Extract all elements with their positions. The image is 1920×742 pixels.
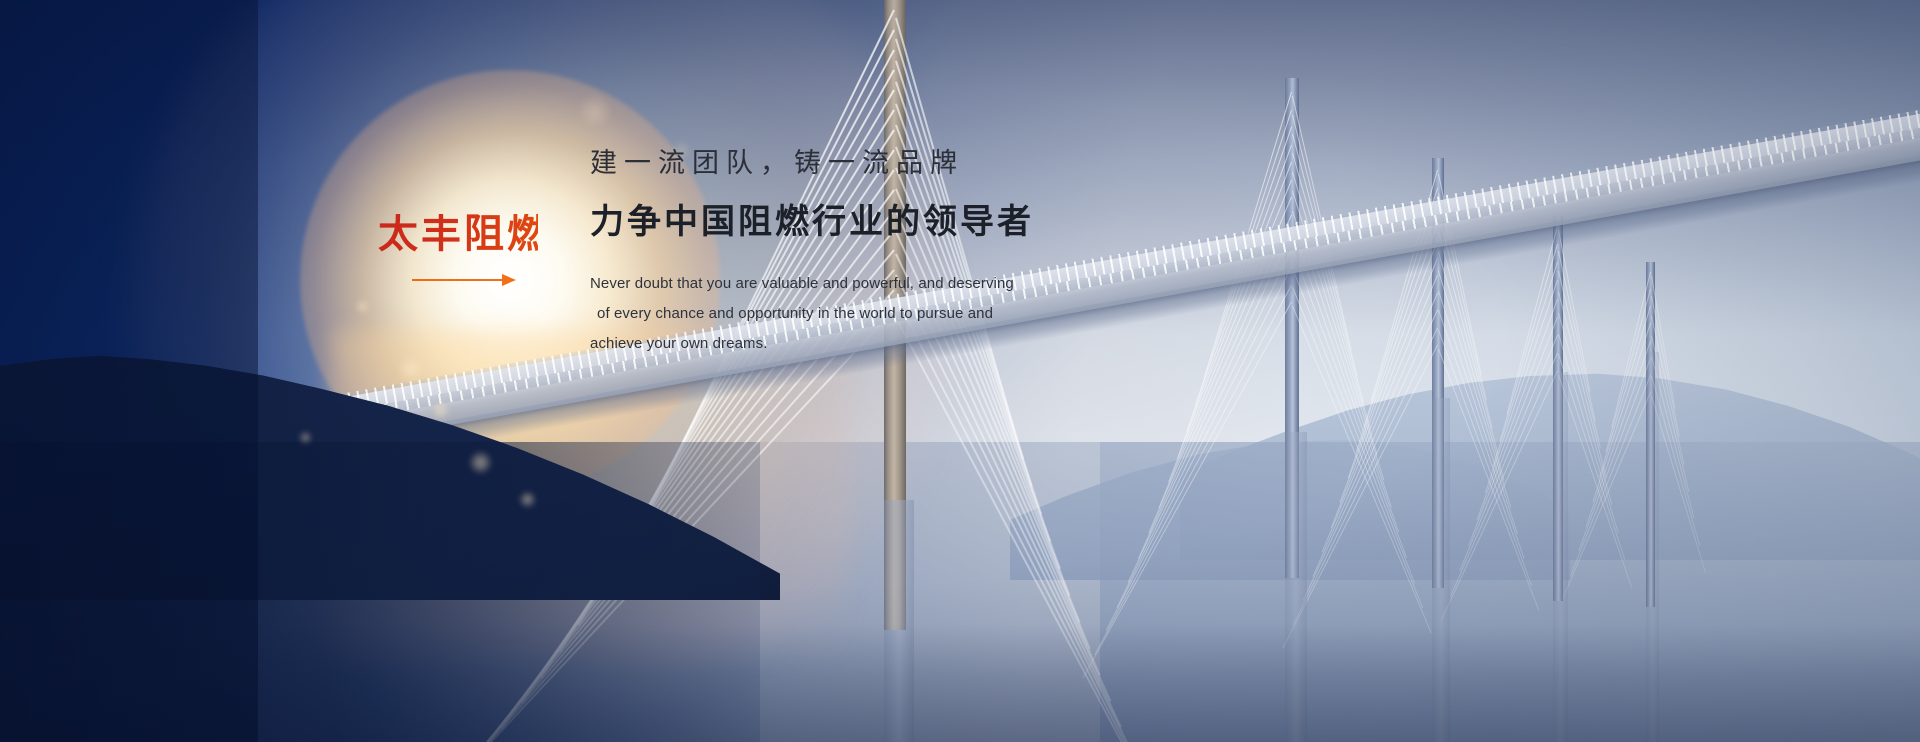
description-line-2: of every chance and opportunity in the w… <box>590 299 1210 329</box>
brand-logo[interactable]: 太丰阻燃 <box>378 214 538 286</box>
banner-text-block: 建一流团队，铸一流品牌 力争中国阻燃行业的领导者 Never doubt tha… <box>590 148 1210 359</box>
hero-banner: 太丰阻燃 建一流团队，铸一流品牌 力争中国阻燃行业的领导者 Never doub… <box>0 0 1920 742</box>
brand-logo-text: 太丰阻燃 <box>378 214 538 254</box>
arrow-head <box>502 274 516 286</box>
banner-content: 太丰阻燃 建一流团队，铸一流品牌 力争中国阻燃行业的领导者 Never doub… <box>0 0 1920 742</box>
description-line-3: achieve your own dreams. <box>590 329 1210 359</box>
arrow-right-icon <box>412 274 516 286</box>
headline-title: 力争中国阻燃行业的领导者 <box>590 202 1210 243</box>
headline-subtitle: 建一流团队，铸一流品牌 <box>590 148 1210 180</box>
arrow-shaft <box>412 279 504 281</box>
description-line-1: Never doubt that you are valuable and po… <box>590 269 1210 299</box>
banner-description: Never doubt that you are valuable and po… <box>590 269 1210 359</box>
